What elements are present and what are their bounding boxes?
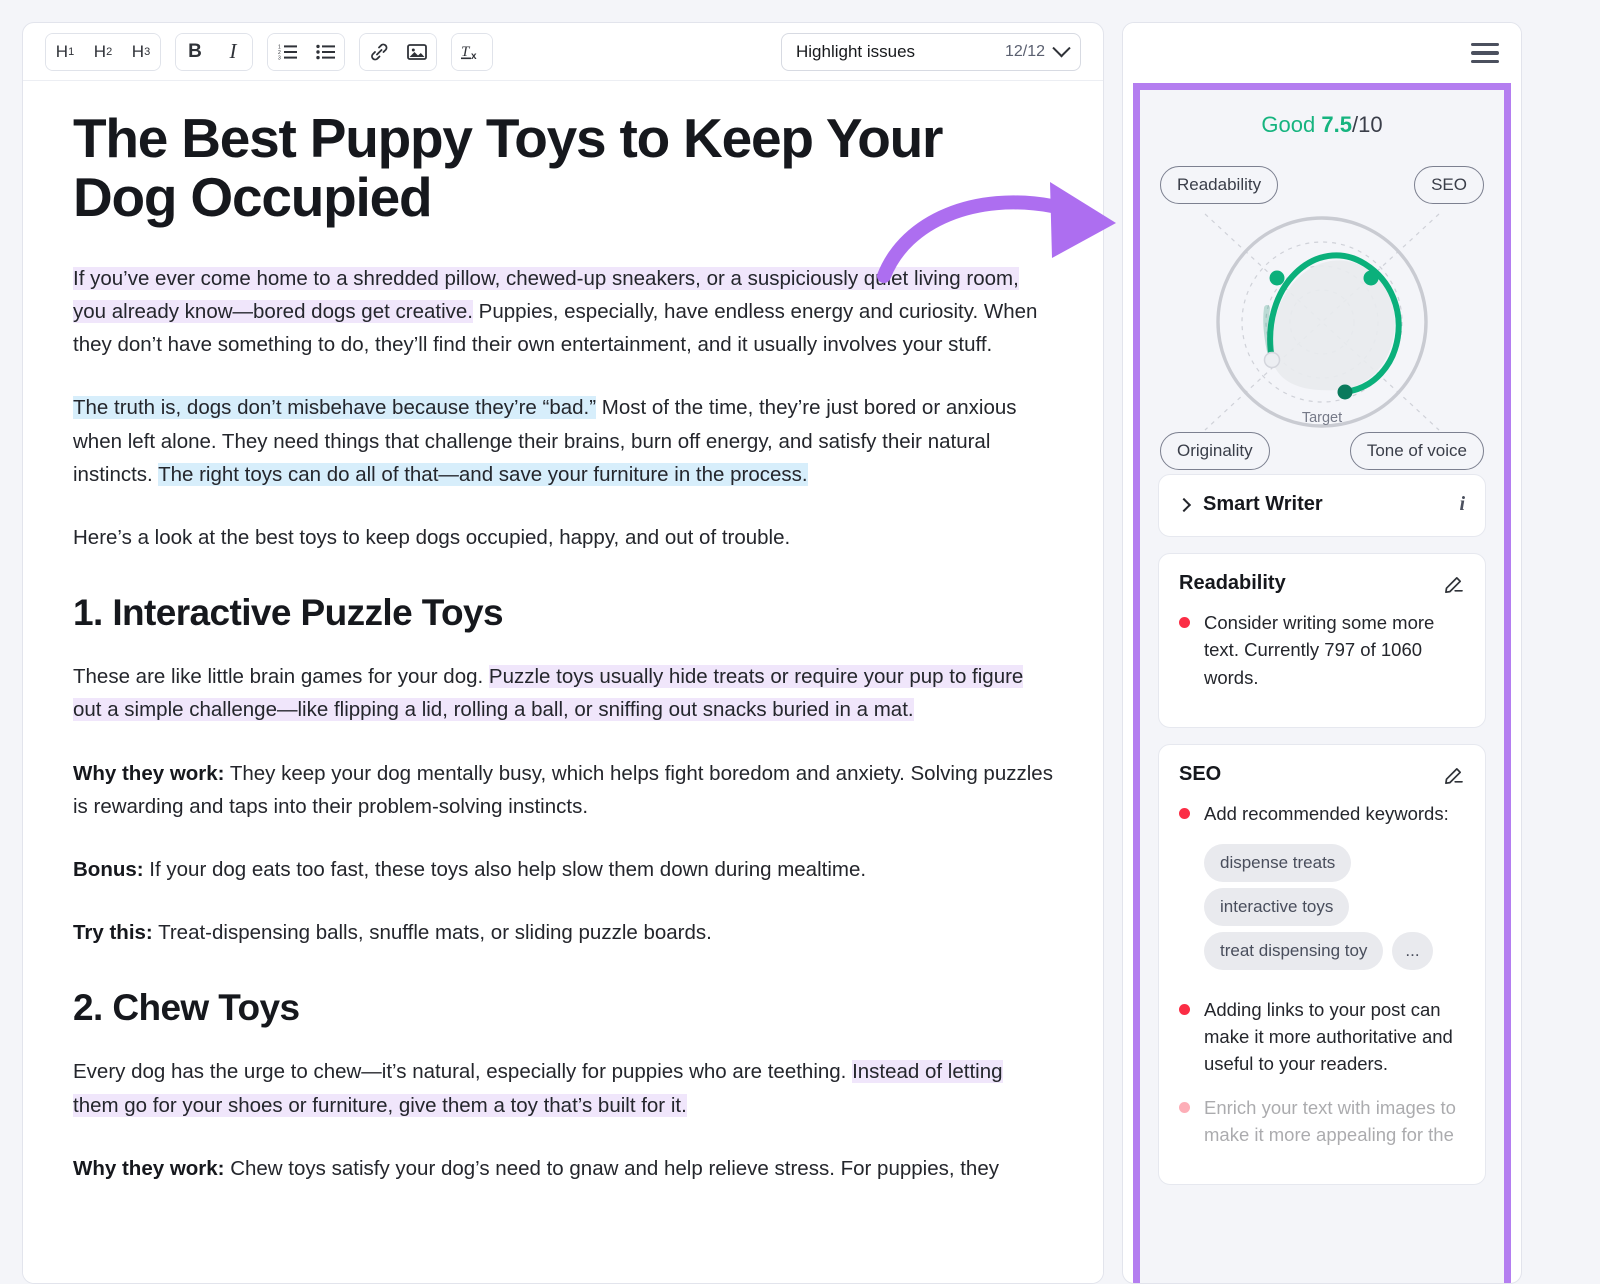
- metric-pill-tone-of-voice[interactable]: Tone of voice: [1350, 432, 1484, 470]
- keyword-chip-more[interactable]: ...: [1392, 932, 1432, 970]
- highlight-issues-count: 12/12: [1005, 43, 1045, 61]
- metric-pill-originality[interactable]: Originality: [1160, 432, 1270, 470]
- editor-panel: H1 H2 H3 B I 1 2 3: [22, 22, 1104, 1284]
- score-rating: Good: [1261, 112, 1315, 137]
- radar-point-seo: [1364, 271, 1379, 286]
- seo-bullet-images: Enrich your text with images to make it …: [1204, 1094, 1465, 1149]
- paragraph-6-plain: If your dog eats too fast, these toys al…: [144, 858, 866, 881]
- seo-keyword-chips-row3: treat dispensing toy ...: [1204, 932, 1465, 970]
- side-panel-body: Good 7.5/10 Readability SEO Originality …: [1133, 83, 1511, 1283]
- highlight-blue-a: The truth is, dogs don’t misbehave becau…: [73, 396, 596, 419]
- h3-button[interactable]: H3: [122, 34, 160, 70]
- seo-card-header: SEO: [1179, 763, 1465, 786]
- h3-label: H: [132, 42, 144, 62]
- toolbar-group-lists: 1 2 3: [267, 33, 345, 71]
- paragraph-5-lead: Why they work:: [73, 762, 225, 785]
- toolbar-group-clear: T x: [451, 33, 493, 71]
- keyword-chip[interactable]: dispense treats: [1204, 844, 1351, 882]
- h2-sub: 2: [106, 46, 112, 58]
- metric-pill-seo[interactable]: SEO: [1414, 166, 1484, 204]
- overall-score: Good 7.5/10: [1158, 112, 1486, 138]
- smart-writer-header[interactable]: Smart Writer i: [1179, 493, 1465, 516]
- seo-bullet-links: Adding links to your post can make it mo…: [1204, 996, 1465, 1078]
- keyword-chip[interactable]: treat dispensing toy: [1204, 932, 1383, 970]
- clear-formatting-button[interactable]: T x: [452, 34, 492, 70]
- ordered-list-icon: 1 2 3: [278, 43, 297, 60]
- italic-button[interactable]: I: [214, 34, 252, 70]
- issue-dot-icon: [1179, 1004, 1190, 1015]
- editor-toolbar: H1 H2 H3 B I 1 2 3: [23, 23, 1103, 81]
- side-panel-fade-overlay: [1140, 1219, 1504, 1283]
- h1-label: H: [56, 42, 68, 62]
- svg-text:x: x: [471, 51, 477, 62]
- paragraph-9: Why they work: Chew toys satisfy your do…: [73, 1152, 1053, 1185]
- page-title: The Best Puppy Toys to Keep Your Dog Occ…: [73, 109, 1053, 228]
- readability-card: Readability Consider writing some more t…: [1158, 553, 1486, 728]
- paragraph-7: Try this: Treat-dispensing balls, snuffl…: [73, 916, 1053, 949]
- ordered-list-button[interactable]: 1 2 3: [268, 34, 306, 70]
- clear-formatting-icon: T x: [461, 42, 483, 62]
- radar-point-readability: [1270, 271, 1285, 286]
- pencil-icon[interactable]: [1443, 573, 1465, 595]
- image-icon: [407, 43, 427, 61]
- seo-keyword-chips: dispense treats: [1204, 844, 1465, 882]
- highlight-blue-b: The right toys can do all of that—and sa…: [158, 463, 808, 486]
- toolbar-group-text-style: B I: [175, 33, 253, 71]
- list-item: Add recommended keywords:: [1179, 800, 1465, 827]
- paragraph-1: If you’ve ever come home to a shredded p…: [73, 262, 1053, 362]
- issue-dot-icon: [1179, 808, 1190, 819]
- section-heading-2: 2. Chew Toys: [73, 987, 1053, 1029]
- bold-button[interactable]: B: [176, 34, 214, 70]
- smart-writer-card[interactable]: Smart Writer i: [1158, 474, 1486, 537]
- content-analysis-panel: Good 7.5/10 Readability SEO Originality …: [1122, 22, 1522, 1284]
- radar-target-label: Target: [1302, 410, 1342, 426]
- readability-card-header: Readability: [1179, 572, 1465, 595]
- seo-card: SEO Add recommended keywords: dispense t…: [1158, 744, 1486, 1185]
- paragraph-2: The truth is, dogs don’t misbehave becau…: [73, 391, 1053, 491]
- toolbar-group-headings: H1 H2 H3: [45, 33, 161, 71]
- link-icon: [369, 42, 389, 62]
- info-icon[interactable]: i: [1459, 493, 1465, 516]
- paragraph-8: Every dog has the urge to chew—it’s natu…: [73, 1055, 1053, 1121]
- h2-label: H: [94, 42, 106, 62]
- seo-card-title: SEO: [1179, 763, 1221, 786]
- list-item: Adding links to your post can make it mo…: [1179, 996, 1465, 1078]
- paragraph-7-lead: Try this:: [73, 921, 153, 944]
- bullet-list-button[interactable]: [306, 34, 344, 70]
- paragraph-9-lead: Why they work:: [73, 1157, 225, 1180]
- h1-button[interactable]: H1: [46, 34, 84, 70]
- paragraph-5: Why they work: They keep your dog mental…: [73, 757, 1053, 823]
- seo-bullets: Add recommended keywords:: [1179, 800, 1465, 827]
- issue-dot-icon: [1179, 1102, 1190, 1113]
- radar-point-tone: [1338, 385, 1353, 400]
- paragraph-6: Bonus: If your dog eats too fast, these …: [73, 853, 1053, 886]
- paragraph-4-plain: These are like little brain games for yo…: [73, 665, 489, 688]
- pencil-icon[interactable]: [1443, 764, 1465, 786]
- seo-keywords-label: Add recommended keywords:: [1204, 800, 1449, 827]
- side-panel-header: [1123, 23, 1521, 83]
- paragraph-7-plain: Treat-dispensing balls, snuffle mats, or…: [153, 921, 712, 944]
- paragraph-3: Here’s a look at the best toys to keep d…: [73, 521, 1053, 554]
- chevron-down-icon: [1052, 39, 1070, 57]
- link-button[interactable]: [360, 34, 398, 70]
- paragraph-6-lead: Bonus:: [73, 858, 144, 881]
- h2-button[interactable]: H2: [84, 34, 122, 70]
- paragraph-4: These are like little brain games for yo…: [73, 660, 1053, 726]
- toolbar-group-insert: [359, 33, 437, 71]
- document-body[interactable]: The Best Puppy Toys to Keep Your Dog Occ…: [23, 81, 1103, 1283]
- quality-radar-chart: Readability SEO Originality Tone of voic…: [1158, 154, 1486, 474]
- score-value: 7.5: [1321, 112, 1352, 137]
- highlight-issues-label: Highlight issues: [796, 42, 1005, 62]
- svg-text:3: 3: [278, 56, 281, 61]
- seo-bullets-extra: Adding links to your post can make it mo…: [1179, 996, 1465, 1149]
- paragraph-8-plain: Every dog has the urge to chew—it’s natu…: [73, 1060, 852, 1083]
- chevron-right-icon[interactable]: [1177, 497, 1191, 511]
- keyword-chip[interactable]: interactive toys: [1204, 888, 1349, 926]
- document-fade-overlay: [23, 1225, 1103, 1283]
- readability-bullets: Consider writing some more text. Current…: [1179, 609, 1465, 691]
- hamburger-menu-icon[interactable]: [1471, 43, 1499, 63]
- h3-sub: 3: [144, 46, 150, 58]
- list-item: Enrich your text with images to make it …: [1179, 1094, 1465, 1149]
- highlight-issues-select[interactable]: Highlight issues 12/12: [781, 33, 1081, 71]
- metric-pill-readability[interactable]: Readability: [1160, 166, 1278, 204]
- h1-sub: 1: [68, 46, 74, 58]
- smart-writer-title: Smart Writer: [1203, 493, 1323, 516]
- section-heading-1: 1. Interactive Puzzle Toys: [73, 592, 1053, 634]
- seo-keyword-chips-row2: interactive toys: [1204, 888, 1465, 926]
- image-button[interactable]: [398, 34, 436, 70]
- bullet-list-icon: [316, 43, 335, 60]
- paragraph-9-plain: Chew toys satisfy your dog’s need to gna…: [225, 1157, 1000, 1180]
- issue-dot-icon: [1179, 617, 1190, 628]
- radar-point-originality: [1265, 353, 1280, 368]
- list-item: Consider writing some more text. Current…: [1179, 609, 1465, 691]
- radar-svg: [1187, 212, 1457, 432]
- score-denominator: /10: [1352, 112, 1383, 137]
- readability-card-title: Readability: [1179, 572, 1286, 595]
- readability-bullet-text: Consider writing some more text. Current…: [1204, 609, 1465, 691]
